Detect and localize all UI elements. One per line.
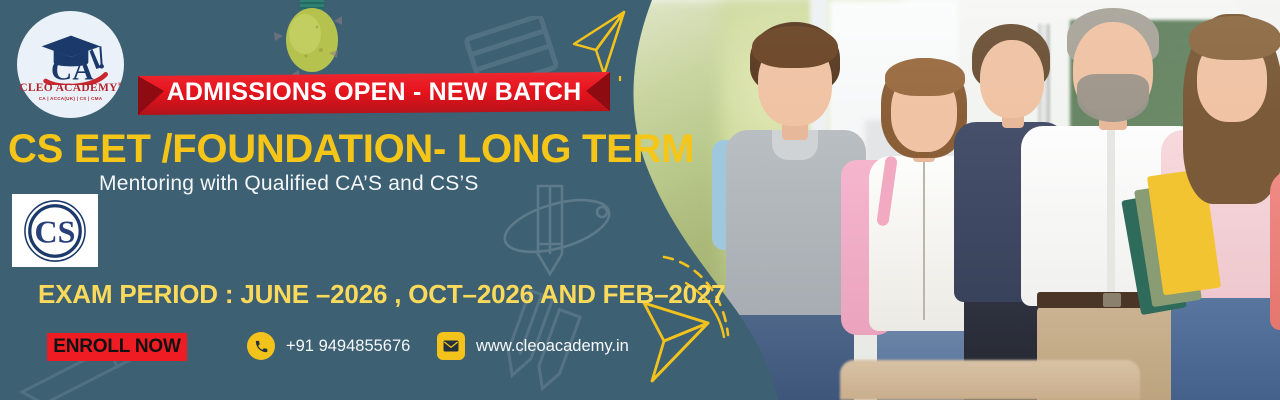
graduation-cap-ca-monogram-icon: C A xyxy=(31,33,111,85)
admissions-ribbon: ADMISSIONS OPEN - NEW BATCH xyxy=(138,72,610,115)
contact-phone[interactable]: +91 9494855676 xyxy=(247,332,410,360)
icsi-cs-emblem: CS xyxy=(12,194,98,267)
exam-period-text: EXAM PERIOD : JUNE –2026 , OCT–2026 AND … xyxy=(38,279,725,310)
website-url: www.cleoacademy.in xyxy=(476,337,629,356)
phone-glyph xyxy=(254,339,269,354)
envelope-glyph xyxy=(443,340,459,352)
logo-courses: CA | ACCA(UK) | CS | CMA xyxy=(39,96,103,101)
svg-text:C: C xyxy=(51,54,72,84)
banner-content: C A CLEO ACADEMY® CA | ACCA(UK) | CS | C… xyxy=(0,0,1280,400)
page-title: CS EET /FOUNDATION- LONG TERM xyxy=(8,127,718,172)
ribbon-label: ADMISSIONS OPEN - NEW BATCH xyxy=(138,72,610,115)
svg-text:CS: CS xyxy=(35,213,76,249)
svg-text:A: A xyxy=(72,54,93,84)
enroll-now-button[interactable]: ENROLL NOW xyxy=(47,333,187,361)
envelope-icon xyxy=(437,332,465,360)
subtitle: Mentoring with Qualified CA’S and CS’S xyxy=(99,172,479,196)
promo-banner: C A CLEO ACADEMY® CA | ACCA(UK) | CS | C… xyxy=(0,0,1280,400)
phone-number: +91 9494855676 xyxy=(286,337,410,356)
contact-website[interactable]: www.cleoacademy.in xyxy=(437,332,629,360)
cs-emblem-icon: CS xyxy=(23,199,87,263)
cleo-academy-logo[interactable]: C A CLEO ACADEMY® CA | ACCA(UK) | CS | C… xyxy=(17,11,124,118)
phone-icon xyxy=(247,332,275,360)
logo-wordmark: CLEO ACADEMY® xyxy=(19,82,122,94)
